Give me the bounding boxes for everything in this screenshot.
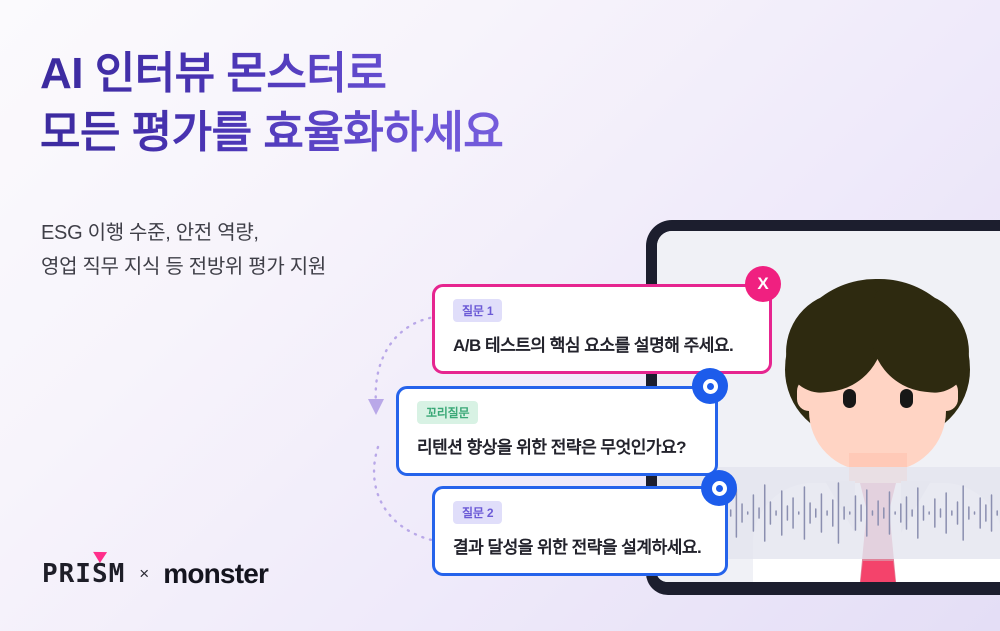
brand-logo-row: PRISM × monster — [42, 558, 268, 590]
arrow-head-1 — [368, 399, 384, 415]
monster-logo-text: monster — [163, 558, 268, 590]
question-card-3[interactable]: 질문 2 결과 달성을 위한 전략을 설계하세요. — [432, 486, 728, 576]
card-question-text: 리텐션 향상을 위한 전략은 무엇인가요? — [417, 433, 697, 458]
question-card-2[interactable]: 꼬리질문 리텐션 향상을 위한 전략은 무엇인가요? — [396, 386, 718, 476]
ring-glyph — [712, 481, 727, 496]
prism-logo: PRISM — [42, 559, 125, 589]
card-badge: 질문 2 — [453, 501, 502, 524]
avatar-tie-tip — [857, 561, 899, 582]
ring-glyph — [703, 379, 718, 394]
card-question-text: 결과 달성을 위한 전략을 설계하세요. — [453, 533, 707, 558]
prism-logo-text: PRISM — [42, 559, 125, 589]
card-badge: 질문 1 — [453, 299, 502, 322]
sparkle-icon — [93, 552, 107, 563]
page-title: AI 인터뷰 몬스터로 모든 평가를 효율화하세요 — [40, 44, 660, 163]
correct-marker-icon[interactable] — [692, 368, 728, 404]
avatar-eye-right — [900, 389, 913, 408]
card-question-text: A/B 테스트의 핵심 요소를 설명해 주세요. — [453, 331, 751, 356]
card-badge: 꼬리질문 — [417, 401, 478, 424]
question-card-1[interactable]: 질문 1 A/B 테스트의 핵심 요소를 설명해 주세요. — [432, 284, 772, 374]
logo-separator-icon: × — [139, 564, 149, 584]
avatar-eye-left — [843, 389, 856, 408]
page-subtitle: ESG 이행 수준, 안전 역량, 영업 직무 지식 등 전방위 평가 지원 — [41, 216, 561, 284]
incorrect-marker-icon[interactable]: X — [745, 266, 781, 302]
correct-marker-icon[interactable] — [701, 470, 737, 506]
